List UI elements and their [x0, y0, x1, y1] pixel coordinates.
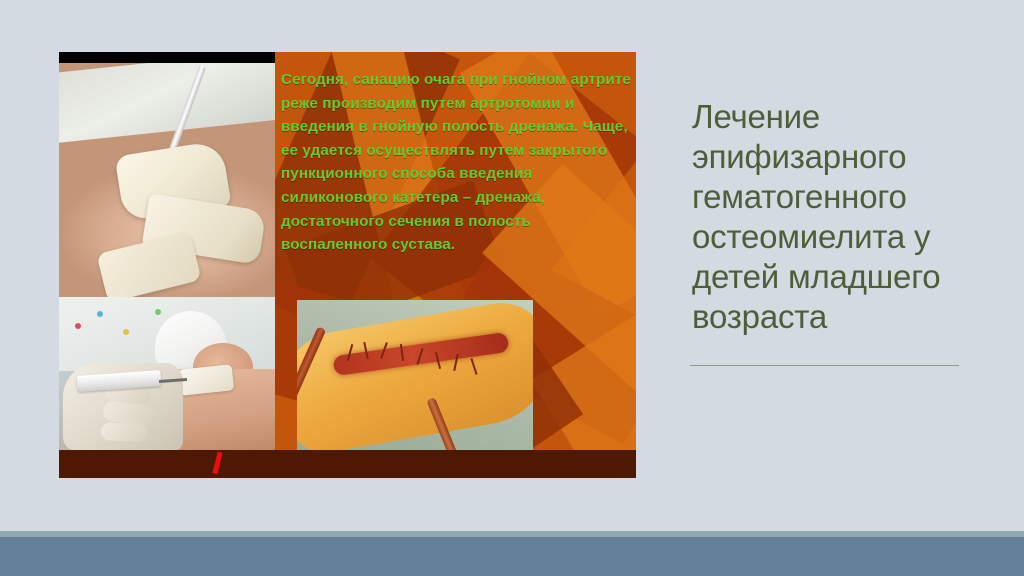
- gloved-finger: [101, 422, 148, 442]
- bed-sheet: [59, 52, 275, 143]
- photo-joint-puncture: [59, 297, 275, 450]
- bedding-print-dot: [97, 311, 103, 317]
- presentation-slide: Сегодня, санацию очага при гнойном артри…: [0, 0, 1024, 576]
- bedding-print-dot: [155, 309, 161, 315]
- gauze-dressing: [96, 231, 201, 297]
- image-collage: Сегодня, санацию очага при гнойном артри…: [59, 52, 636, 478]
- slide-body-text: Сегодня, санацию очага при гнойном артри…: [281, 68, 633, 257]
- collage-footer-band: [59, 450, 636, 478]
- photo-infant-limb-dressing: [59, 52, 275, 297]
- title-underline-rule: [690, 365, 959, 366]
- page-title: Лечение эпифизарного гематогенного остео…: [692, 97, 970, 337]
- bedding-print-dot: [75, 323, 81, 329]
- bedding-print-dot: [123, 329, 129, 335]
- footer-band: [0, 537, 1024, 576]
- photo-sutured-limb: [297, 300, 533, 455]
- photo-black-border: [59, 52, 275, 63]
- slide-title-block: Лечение эпифизарного гематогенного остео…: [692, 97, 970, 337]
